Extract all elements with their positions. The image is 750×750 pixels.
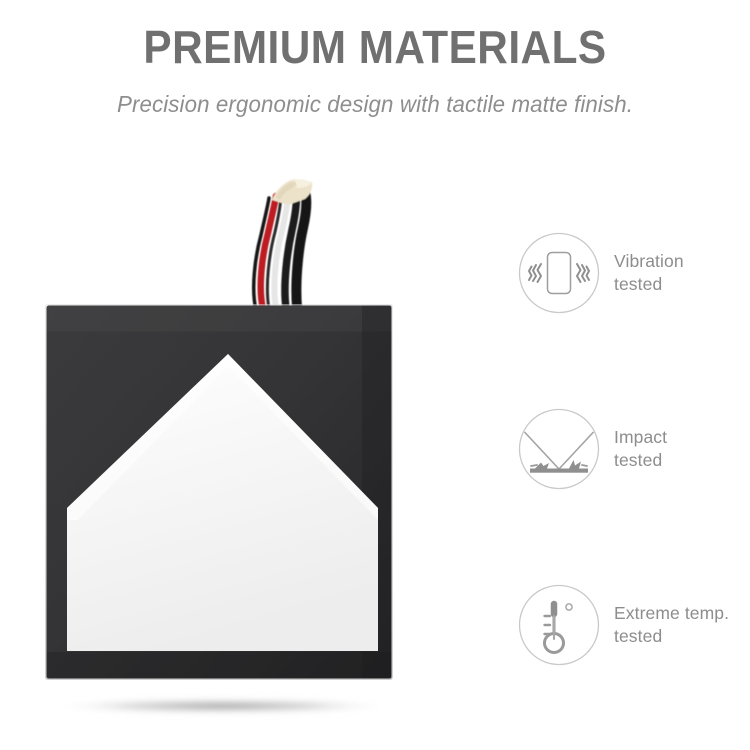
feature-item-temperature: Extreme temp. tested <box>516 580 740 670</box>
page-title: PREMIUM MATERIALS <box>30 0 720 74</box>
feature-list: Vibration tested <box>516 228 740 670</box>
product-shadow <box>47 699 397 714</box>
feature-item-impact: Impact tested <box>516 404 740 494</box>
feature-label-impact: Impact tested <box>614 426 667 473</box>
product-feature-banner: PREMIUM MATERIALS Precision ergonomic de… <box>0 0 750 750</box>
jst-connector <box>272 179 312 205</box>
page-subtitle: Precision ergonomic design with tactile … <box>11 74 739 118</box>
feature-item-vibration: Vibration tested <box>516 228 740 318</box>
label-pentagon <box>67 354 378 651</box>
impact-badge <box>516 406 602 492</box>
thermometer-icon <box>516 582 602 668</box>
vibration-badge <box>516 230 602 316</box>
thermometer-badge <box>516 582 602 668</box>
feature-label-vibration: Vibration tested <box>614 250 684 297</box>
wire-harness <box>254 179 312 310</box>
header: PREMIUM MATERIALS Precision ergonomic de… <box>0 0 750 118</box>
impact-icon <box>516 406 602 492</box>
battery-body <box>45 304 393 680</box>
vibration-icon <box>516 230 602 316</box>
feature-label-temperature: Extreme temp. tested <box>614 602 729 649</box>
